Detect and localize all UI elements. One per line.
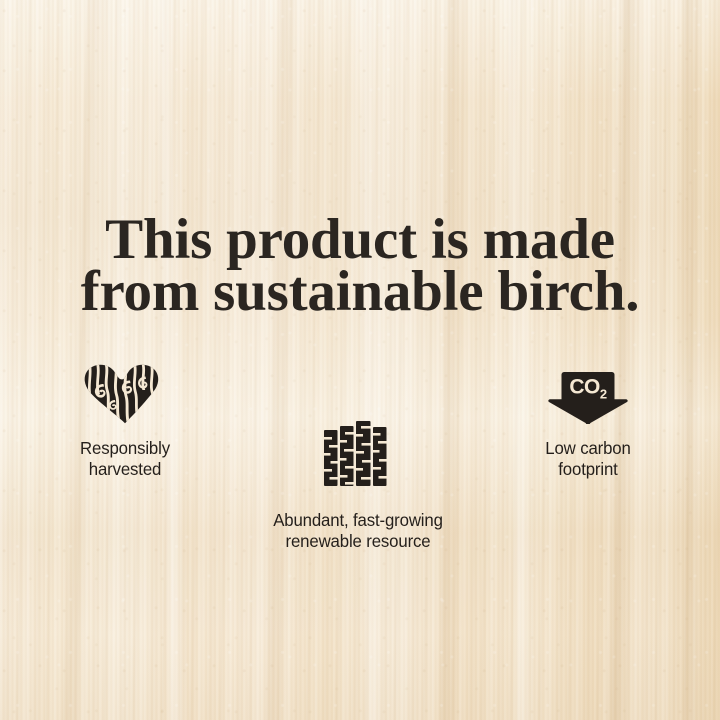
feature-caption-line-1: Abundant, fast-growing <box>262 510 454 531</box>
co2-down-arrow-icon: CO2 <box>547 372 629 424</box>
birch-trunks-icon <box>323 420 393 488</box>
feature-caption-line-1: Responsibly <box>29 438 221 459</box>
feature-responsibly-harvested: Responsibly harvested <box>25 362 225 480</box>
feature-caption: Abundant, fast-growing renewable resourc… <box>262 510 454 552</box>
feature-list: Responsibly harvested <box>0 352 720 582</box>
feature-caption-line-2: footprint <box>492 459 684 480</box>
wood-grain-heart-icon <box>83 364 167 424</box>
feature-caption-line-2: harvested <box>29 459 221 480</box>
panel-content: This product is made from sustainable bi… <box>0 0 720 720</box>
feature-renewable-resource: Abundant, fast-growing renewable resourc… <box>258 420 458 552</box>
headline-line-2: from sustainable birch. <box>0 266 720 318</box>
feature-icon-slot <box>258 420 458 488</box>
page-title: This product is made from sustainable bi… <box>0 214 720 318</box>
headline-line-1: This product is made <box>0 214 720 266</box>
feature-caption: Low carbon footprint <box>492 438 684 480</box>
feature-caption-line-1: Low carbon <box>492 438 684 459</box>
feature-icon-slot: CO2 <box>488 362 688 424</box>
feature-icon-slot <box>25 362 225 424</box>
feature-caption: Responsibly harvested <box>29 438 221 480</box>
feature-caption-line-2: renewable resource <box>262 531 454 552</box>
feature-low-carbon-footprint: CO2 Low carbon footprint <box>488 362 688 480</box>
birch-product-panel: This product is made from sustainable bi… <box>0 0 720 720</box>
